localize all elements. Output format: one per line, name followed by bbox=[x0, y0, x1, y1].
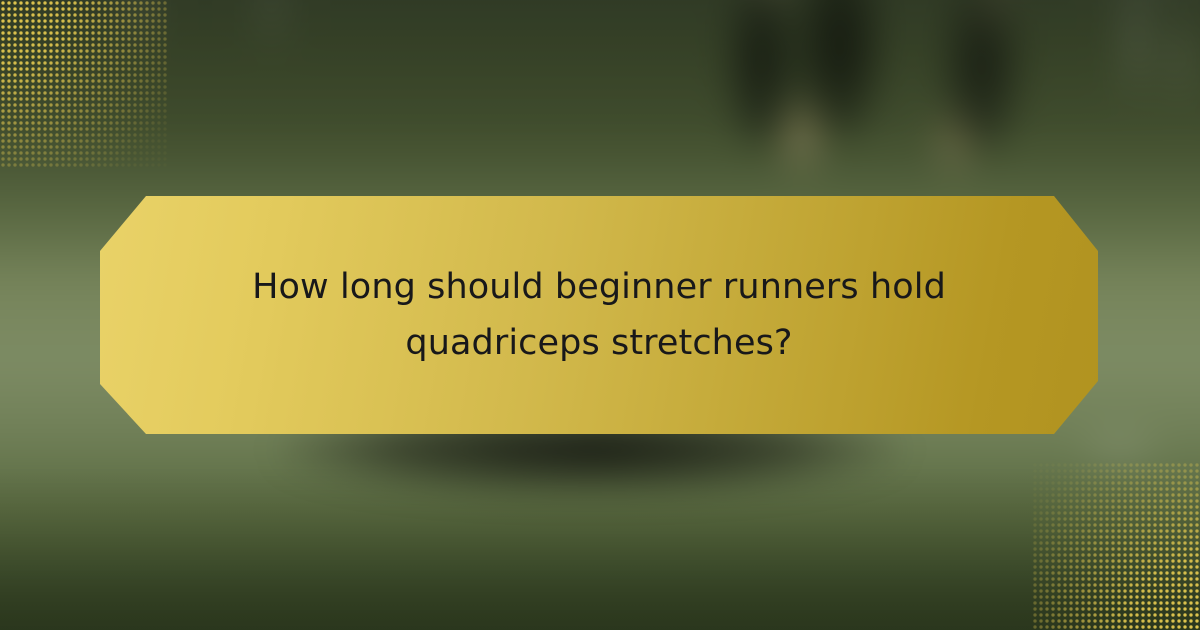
question-title: How long should beginner runners hold qu… bbox=[250, 259, 948, 371]
poster-canvas: How long should beginner runners hold qu… bbox=[0, 0, 1200, 630]
question-card: How long should beginner runners hold qu… bbox=[100, 196, 1098, 434]
